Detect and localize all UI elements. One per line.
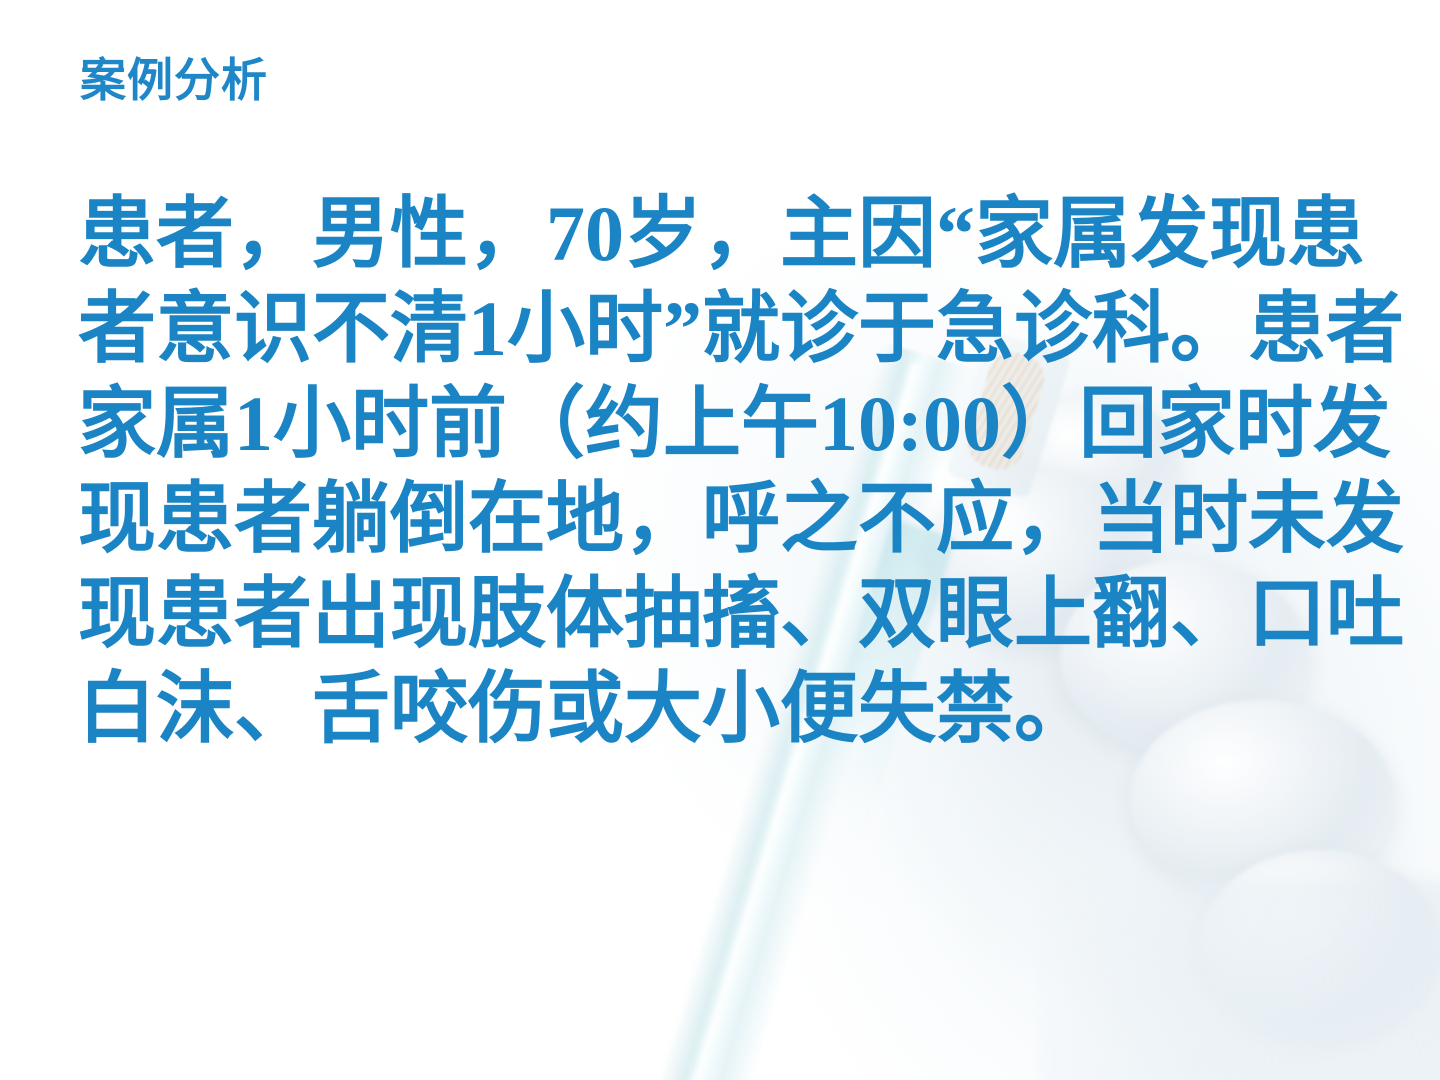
body-text-line: 者意识不清1小时”就诊于急诊科。患者 [78, 281, 1388, 376]
body-text-line: 家属1小时前（约上午10:00）回家时发 [78, 376, 1388, 471]
body-text-line: 白沫、舌咬伤或大小便失禁。 [78, 661, 1388, 756]
slide-content: 案例分析 患者，男性，70岁，主因“家属发现患 者意识不清1小时”就诊于急诊科。… [0, 0, 1440, 1080]
body-text-line: 患者，男性，70岁，主因“家属发现患 [78, 186, 1388, 281]
body-text-line: 现患者躺倒在地，呼之不应，当时未发 [78, 471, 1388, 566]
body-text-line: 现患者出现肢体抽搐、双眼上翻、口吐 [78, 566, 1388, 661]
presentation-slide: 案例分析 患者，男性，70岁，主因“家属发现患 者意识不清1小时”就诊于急诊科。… [0, 0, 1440, 1080]
slide-body-text: 患者，男性，70岁，主因“家属发现患 者意识不清1小时”就诊于急诊科。患者 家属… [78, 186, 1388, 756]
slide-title: 案例分析 [80, 52, 268, 110]
